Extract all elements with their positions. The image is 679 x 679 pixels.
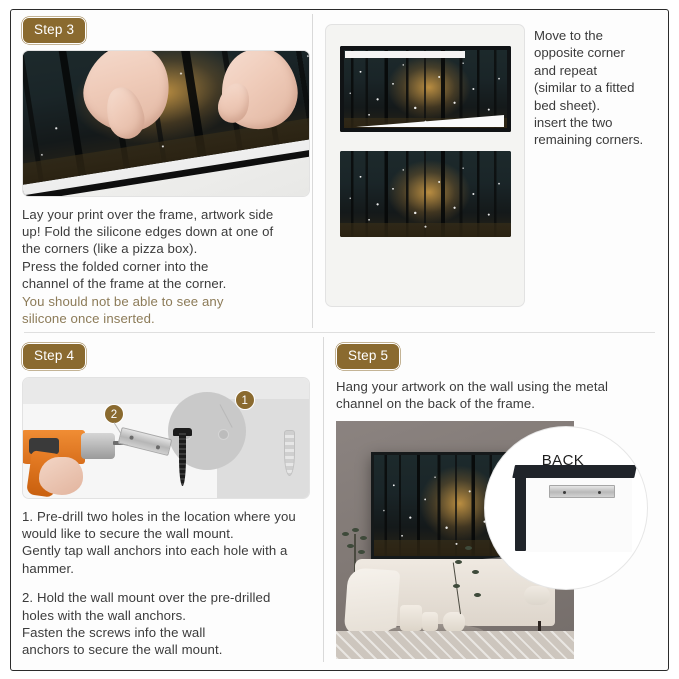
step-5-badge: Step 5 <box>336 343 400 370</box>
branch-leaf <box>465 546 472 550</box>
side-note-line: insert the two <box>534 114 662 131</box>
step-5-visuals: BACK <box>336 421 654 659</box>
tree-trunks <box>340 151 511 237</box>
frame-back-top-edge <box>512 465 637 478</box>
bracket-hole <box>129 435 134 440</box>
side-note-line: and repeat <box>534 62 662 79</box>
instruction-line: would like to secure the wall mount. <box>22 525 314 542</box>
step-5-back-detail: BACK <box>484 426 648 590</box>
screw-icon <box>179 430 186 486</box>
bracket-hole <box>156 445 161 450</box>
instruction-line: 1. Pre-drill two holes in the location w… <box>22 508 314 525</box>
metal-channel-icon <box>549 485 615 498</box>
instruction-accent-line: silicone once inserted. <box>22 310 312 327</box>
instruction-line: Hang your artwork on the wall using the … <box>336 378 646 395</box>
steps-4-5-section: Step 4 1 2 <box>11 333 668 666</box>
step-3-side-note: Move to the opposite corner and repeat (… <box>534 24 662 332</box>
step-4-illustration: 1 2 <box>22 377 310 499</box>
instruction-line: the corners (like a pizza box). <box>22 240 312 257</box>
instruction-line: Gently tap wall anchors into each hole w… <box>22 542 314 559</box>
drill-hole-icon <box>218 429 229 440</box>
throw-blanket <box>343 567 400 637</box>
side-note-line: remaining corners. <box>534 131 662 148</box>
instruction-line: hammer. <box>22 560 314 577</box>
step-3-section: Step 3 <box>11 10 668 332</box>
instruction-accent-line: You should not be able to see any <box>22 293 312 310</box>
side-note-line: Move to the <box>534 27 662 44</box>
hand-holding-drill-icon <box>39 457 83 495</box>
drill-chuck-icon <box>81 433 115 459</box>
step-3-right-column: Move to the opposite corner and repeat (… <box>313 10 668 332</box>
branch-leaf <box>472 570 479 574</box>
forest-artwork-icon <box>340 151 511 237</box>
area-rug <box>336 631 574 660</box>
step-3-badge: Step 3 <box>22 17 86 44</box>
channel-screw <box>563 491 566 494</box>
content-frame: Step 3 <box>10 9 669 671</box>
step-3-left-column: Step 3 <box>11 10 312 332</box>
step-5-section: Step 5 Hang your artwork on the wall usi… <box>324 333 668 666</box>
side-note-line: bed sheet). <box>534 97 662 114</box>
instruction-line: 2. Hold the wall mount over the pre-dril… <box>22 589 314 606</box>
instruction-line: channel on the back of the frame. <box>336 395 646 412</box>
callout-1-badge: 1 <box>235 390 255 410</box>
step-4-section: Step 4 1 2 <box>11 333 323 666</box>
step-3-thumbnail-panel <box>325 24 525 307</box>
step-3-instructions: Lay your print over the frame, artwork s… <box>22 206 312 328</box>
step-4-badge: Step 4 <box>22 343 86 370</box>
bolster-cushion <box>524 586 550 605</box>
plant-leaf <box>347 544 354 548</box>
side-note-line: (similar to a fitted <box>534 79 662 96</box>
wall-anchor-icon <box>284 430 295 476</box>
branch-leaf <box>453 584 460 588</box>
instruction-line: channel of the frame at the corner. <box>22 275 312 292</box>
plant-leaf <box>360 536 367 540</box>
unfolded-silicone-top <box>345 51 465 58</box>
plant-leaf <box>352 528 359 532</box>
side-note-line: opposite corner <box>534 44 662 61</box>
instruction-line: holes with the wall anchors. <box>22 607 314 624</box>
step-3-photo <box>22 50 310 197</box>
step-4-paragraph-1: 1. Pre-drill two holes in the location w… <box>22 508 314 578</box>
plant-leaf <box>342 532 349 536</box>
candle-vase <box>400 605 421 631</box>
plant-leaf <box>358 550 365 554</box>
frame-back-left-edge <box>515 465 526 551</box>
step-5-instructions: Hang your artwork on the wall using the … <box>336 378 646 413</box>
candle-vase <box>422 612 439 631</box>
instruction-sheet: Step 3 <box>0 0 679 679</box>
instruction-line: anchors to secure the wall mount. <box>22 641 314 658</box>
step-3-thumbnail-2 <box>340 151 511 237</box>
instruction-line: Press the folded corner into the <box>22 258 312 275</box>
step-4-paragraph-2: 2. Hold the wall mount over the pre-dril… <box>22 589 314 659</box>
instruction-line: up! Fold the silicone edges down at one … <box>22 223 312 240</box>
instruction-line: Lay your print over the frame, artwork s… <box>22 206 312 223</box>
step-3-thumbnail-1 <box>340 46 511 132</box>
artwork-ground <box>340 223 511 237</box>
channel-screw <box>598 491 601 494</box>
instruction-line: Fasten the screws info the wall <box>22 624 314 641</box>
